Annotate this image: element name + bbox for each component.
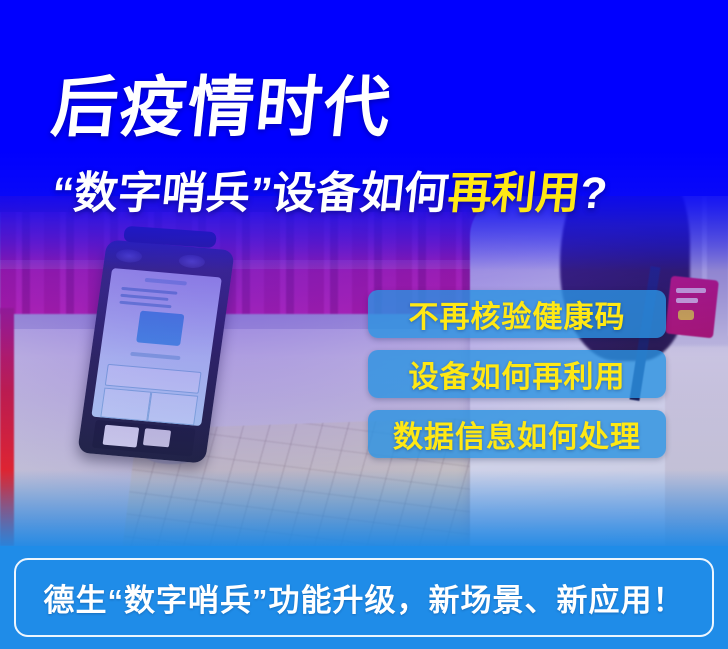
headline-line-2-accent: 再利用 (445, 169, 582, 218)
topic-pill-1[interactable]: 不再核验健康码 (368, 290, 666, 338)
topic-pill-2[interactable]: 设备如何再利用 (368, 350, 666, 398)
topic-pill-label: 设备如何再利用 (409, 352, 626, 396)
bottom-blue-fade (0, 470, 728, 550)
headline-line-2-prefix: “数字哨兵”设备如何 (49, 169, 450, 218)
topic-pill-3[interactable]: 数据信息如何处理 (368, 410, 666, 458)
bottom-banner-frame: 德生“数字哨兵”功能升级，新场景、新应用！ (14, 558, 714, 637)
topic-pill-list: 不再核验健康码 设备如何再利用 数据信息如何处理 (368, 290, 668, 470)
bottom-banner-text: 德生“数字哨兵”功能升级，新场景、新应用！ (44, 575, 685, 620)
headline-line-2-suffix: ? (577, 169, 609, 218)
topic-pill-label: 不再核验健康码 (409, 292, 626, 336)
headline-line-2: “数字哨兵”设备如何再利用? (50, 172, 610, 216)
poster-root: 后疫情时代 “数字哨兵”设备如何再利用? 不再核验健康码 设备如何再利用 数据信… (0, 0, 728, 649)
headline-line-1: 后疫情时代 (49, 74, 396, 140)
topic-pill-label: 数据信息如何处理 (393, 412, 641, 456)
bottom-banner: 德生“数字哨兵”功能升级，新场景、新应用！ (0, 546, 728, 649)
